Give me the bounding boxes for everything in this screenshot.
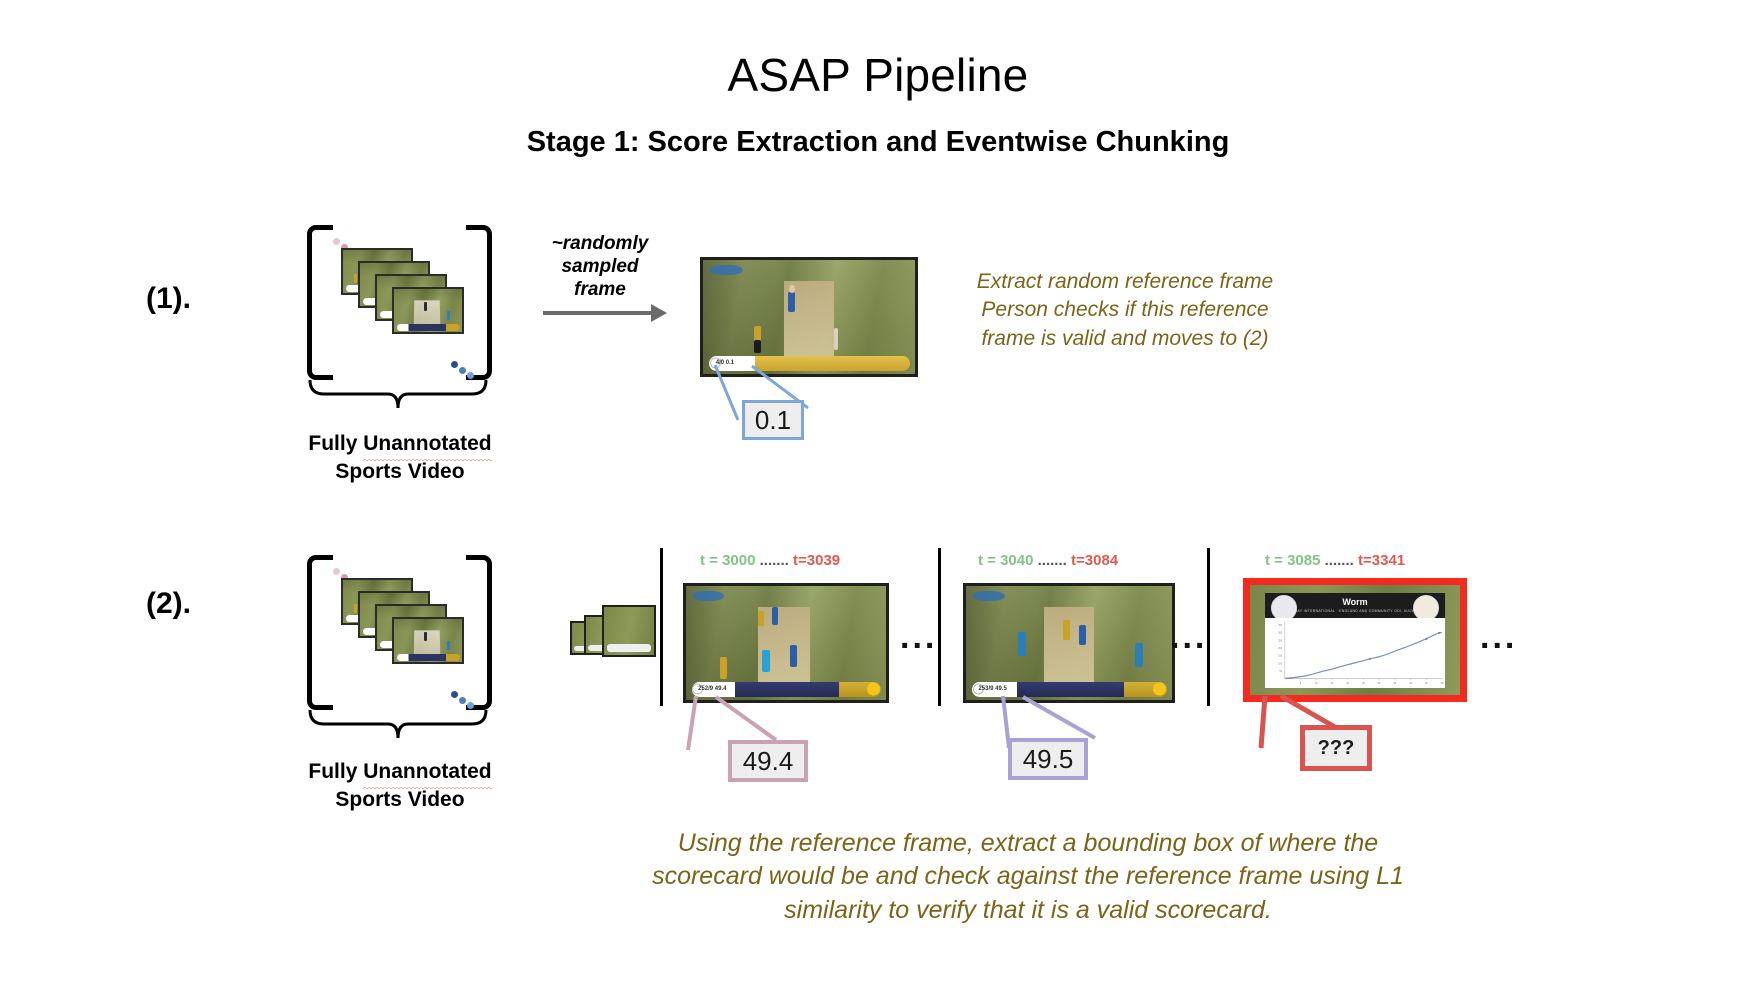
chunk-2-similarity-box: 49.5: [1008, 738, 1088, 780]
svg-text:20: 20: [1346, 681, 1349, 684]
svg-text:5: 5: [1300, 681, 1302, 684]
svg-text:200: 200: [1278, 646, 1282, 649]
caption-misspelled-word: Unannotated: [363, 430, 491, 458]
chunk-divider: [1207, 548, 1210, 706]
stacked-video-frames: [341, 248, 471, 358]
svg-text:300: 300: [1278, 631, 1282, 634]
arrow-label-line2: sampled: [520, 255, 680, 278]
chunk-ellipsis: ...: [1170, 620, 1207, 654]
chunk-3-time-end: t=3341: [1358, 552, 1405, 569]
arrow-label-line1: ~randomly: [520, 232, 680, 255]
video-frame-thumbnail: [392, 617, 464, 664]
svg-text:150: 150: [1278, 654, 1282, 657]
ellipsis-dot: [333, 568, 340, 575]
ellipsis-dot: [459, 697, 466, 704]
svg-text:40: 40: [1409, 681, 1412, 684]
chunk-3-similarity-box: ???: [1300, 725, 1372, 771]
chunk-ellipsis: ...: [1480, 620, 1517, 654]
similarity-score-value: 0.1: [755, 405, 791, 436]
video-frame-collection-1: [307, 225, 492, 380]
svg-text:10: 10: [1315, 681, 1318, 684]
reference-frame-1: 4/0 0.1: [700, 257, 918, 377]
svg-text:50: 50: [1440, 681, 1443, 684]
sampling-arrow-line: [543, 311, 653, 315]
step1-description-line3: frame is valid and moves to (2): [930, 325, 1320, 353]
chunk-ellipsis: ...: [900, 620, 937, 654]
chunk-1-similarity-value: 49.4: [743, 746, 794, 777]
step-label-1: (1).: [146, 282, 191, 316]
chunk-1-time-range: t = 3000 ....... t=3039: [700, 552, 840, 569]
step1-description-line1: Extract random reference frame: [930, 268, 1320, 296]
chunk-1-time-dots: .......: [760, 552, 789, 569]
chunk-1-similarity-box: 49.4: [728, 740, 808, 782]
chunk-1-time-start: t = 3000: [700, 552, 755, 569]
sampling-arrow-label: ~randomly sampled frame: [520, 232, 680, 302]
worm-chart-plot: 50100150200250300350 5101520253035404550: [1265, 618, 1446, 689]
arrow-label-line3: frame: [520, 278, 680, 301]
video-frame-thumbnail: [392, 287, 464, 334]
video-frame-collection-2: [307, 555, 492, 710]
step-label-2: (2).: [146, 587, 191, 621]
source-caption-2: Fully Unannotated Sports Video: [260, 758, 540, 813]
svg-text:100: 100: [1278, 662, 1282, 665]
slide-canvas: ASAP Pipeline Stage 1: Score Extraction …: [0, 0, 1756, 986]
svg-text:350: 350: [1278, 623, 1282, 626]
svg-text:25: 25: [1362, 681, 1365, 684]
svg-text:250: 250: [1278, 639, 1282, 642]
step2-description-line3: similarity to verify that it is a valid …: [578, 894, 1478, 927]
svg-text:35: 35: [1393, 681, 1396, 684]
chunk-3-frame-invalid: Worm ONE DAY INTERNATIONAL · ENGLAND AND…: [1243, 578, 1467, 702]
stacked-video-frames: [341, 578, 471, 688]
svg-text:45: 45: [1425, 681, 1428, 684]
similarity-score-box-1: 0.1: [742, 400, 804, 440]
step2-description-line2: scorecard would be and check against the…: [578, 860, 1478, 893]
svg-text:30: 30: [1378, 681, 1381, 684]
worm-chart-subtitle: ONE DAY INTERNATIONAL · ENGLAND AND COMM…: [1285, 609, 1425, 613]
worm-chart: Worm ONE DAY INTERNATIONAL · ENGLAND AND…: [1265, 593, 1446, 689]
brace-icon: [308, 378, 488, 410]
source-caption-line2: Sports Video: [260, 458, 540, 486]
page-title: ASAP Pipeline: [0, 48, 1756, 102]
chunk-2-similarity-value: 49.5: [1023, 744, 1074, 775]
chunk-3-time-start: t = 3085: [1265, 552, 1320, 569]
ellipsis-dot: [451, 361, 458, 368]
chunk-2-time-range: t = 3040 ....... t=3084: [978, 552, 1118, 569]
chunk-2-frame: 253/9 49.5: [963, 583, 1175, 703]
svg-text:50: 50: [1279, 670, 1282, 673]
chunk-2-time-dots: .......: [1038, 552, 1067, 569]
caption-word-fully: Fully: [308, 432, 363, 455]
chunk-3-time-range: t = 3085 ....... t=3341: [1265, 552, 1405, 569]
ellipsis-dot: [333, 238, 340, 245]
worm-chart-header: Worm ONE DAY INTERNATIONAL · ENGLAND AND…: [1265, 593, 1446, 618]
step2-description-line1: Using the reference frame, extract a bou…: [578, 827, 1478, 860]
brace-icon: [308, 708, 488, 740]
chunk-1-frame: 252/9 49.4: [683, 583, 889, 703]
ellipsis-dot: [459, 367, 466, 374]
caption-word-fully: Fully: [308, 760, 363, 783]
chunk-divider: [660, 548, 663, 706]
chunk-input-thumbnails: [570, 605, 660, 663]
chunk-3-similarity-value: ???: [1318, 737, 1355, 760]
source-caption-1: Fully Unannotated Sports Video: [260, 430, 540, 485]
step2-description: Using the reference frame, extract a bou…: [578, 827, 1478, 927]
sampling-arrow-head-icon: [651, 304, 667, 322]
chunk-3-time-dots: .......: [1325, 552, 1354, 569]
video-frame-thumbnail: [602, 605, 656, 657]
bracket-left-icon: [307, 225, 333, 380]
caption-misspelled-word: Unannotated: [363, 758, 491, 786]
chunk-divider: [938, 548, 941, 706]
worm-chart-line: 50100150200250300350 5101520253035404550: [1265, 618, 1446, 689]
source-caption-line2: Sports Video: [260, 786, 540, 814]
ellipsis-dot: [451, 691, 458, 698]
step1-description: Extract random reference frame Person ch…: [930, 268, 1320, 353]
chunk-1-time-end: t=3039: [793, 552, 840, 569]
svg-text:15: 15: [1330, 681, 1333, 684]
page-subtitle: Stage 1: Score Extraction and Eventwise …: [0, 126, 1756, 159]
chunk-2-time-start: t = 3040: [978, 552, 1033, 569]
chunk-2-time-end: t=3084: [1071, 552, 1118, 569]
worm-chart-title: Worm: [1342, 598, 1367, 607]
step1-description-line2: Person checks if this reference: [930, 296, 1320, 324]
bracket-left-icon: [307, 555, 333, 710]
